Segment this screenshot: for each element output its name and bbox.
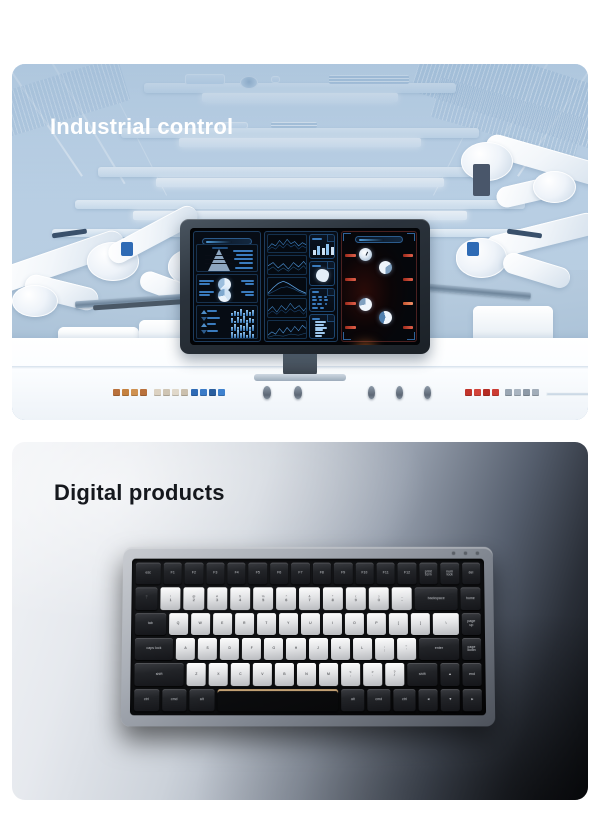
key-label: F5	[256, 572, 260, 575]
key-sublabel: ^	[286, 596, 288, 599]
key-\[interactable]: \	[433, 613, 459, 635]
key-backspace[interactable]: backspace	[415, 588, 458, 610]
key-m[interactable]: M	[319, 663, 338, 685]
key-label: alt	[351, 698, 355, 701]
key-8[interactable]: *8	[323, 588, 343, 610]
key-label: tab	[148, 622, 153, 625]
monitor-base	[254, 374, 346, 381]
page-title-industrial: Industrial control	[50, 114, 233, 140]
keyboard-row-5: shiftZXCVBNM< ,> .? /shift▲end	[134, 663, 481, 685]
key-label: page up	[467, 620, 475, 627]
card-digital-products[interactable]: escF1F2F3F4F5F6F7F8F9F10F11F12print scrn…	[12, 442, 588, 800]
key-alt[interactable]: alt	[189, 689, 214, 711]
key-f6[interactable]: F6	[270, 563, 288, 585]
key-label: A	[184, 647, 186, 650]
key-"-'[interactable]: " '	[397, 638, 416, 660]
key-4[interactable]: $4	[230, 588, 250, 610]
key-label: home	[466, 597, 475, 600]
key-label: ◄	[427, 698, 431, 701]
key-label: ▼	[449, 698, 453, 701]
monitor-neck	[283, 354, 317, 376]
key-k[interactable]: K	[331, 638, 350, 660]
key-r[interactable]: R	[235, 613, 254, 635]
key-label: ctrl	[402, 698, 407, 701]
key-sublabel: @	[192, 596, 195, 599]
key-shift[interactable]: shift	[134, 663, 184, 685]
key-alt[interactable]: alt	[342, 689, 365, 711]
key-label: E	[221, 622, 223, 625]
keyboard-led-indicators	[452, 552, 479, 555]
trend-panel[interactable]	[264, 231, 338, 342]
key-print-scrn[interactable]: print scrn	[419, 563, 438, 585]
key-ctrl[interactable]: ctrl	[134, 689, 159, 711]
key-y[interactable]: Y	[279, 613, 298, 635]
key-s[interactable]: S	[198, 638, 217, 660]
key-t[interactable]: T	[257, 613, 276, 635]
key-f[interactable]: F	[242, 638, 261, 660]
key-q[interactable]: Q	[169, 613, 188, 635]
key-label: S	[206, 647, 208, 650]
key-sublabel: #	[216, 596, 218, 599]
keyboard-keywell[interactable]: escF1F2F3F4F5F6F7F8F9F10F11F12print scrn…	[130, 559, 486, 716]
key-label: F12	[404, 572, 410, 575]
console-buttons-gray[interactable]	[505, 389, 539, 396]
key-label: F2	[192, 572, 196, 575]
key-ctrl[interactable]: ctrl	[393, 689, 416, 711]
key-label: F4	[235, 572, 239, 575]
key-◄[interactable]: ◄	[419, 689, 438, 711]
key-2[interactable]: @2	[184, 588, 204, 610]
key->-.[interactable]: > .	[363, 663, 382, 685]
key-l[interactable]: L	[353, 638, 372, 660]
wave-chart-2[interactable]	[267, 255, 307, 274]
key-label: 5	[262, 599, 264, 603]
key-v[interactable]: V	[253, 663, 272, 685]
key-label: Z	[195, 673, 197, 676]
mechanical-keyboard[interactable]: escF1F2F3F4F5F6F7F8F9F10F11F12print scrn…	[121, 547, 496, 727]
wave-chart-3[interactable]	[267, 277, 307, 296]
key-f12[interactable]: F12	[398, 563, 416, 585]
key-label: caps lock	[146, 647, 161, 650]
key-label: N	[305, 673, 308, 676]
wave-chart-1[interactable]	[267, 234, 307, 253]
key-sublabel: $	[239, 596, 241, 599]
key-[[interactable]: [	[389, 613, 408, 635]
key-sublabel: %	[262, 596, 265, 599]
key-0[interactable]: )0	[369, 588, 389, 610]
key-label: W	[199, 622, 202, 625]
key-label: ►	[471, 698, 475, 701]
key-~-`[interactable]: ~ `	[135, 588, 157, 610]
key-label: 7	[308, 599, 310, 603]
key-7[interactable]: &7	[299, 588, 319, 610]
key-label: end	[469, 673, 475, 676]
keyboard-row-4: caps lockASDFGHJKL: ;" 'enterpage down	[135, 638, 482, 660]
key-9[interactable]: (9	[346, 588, 366, 610]
key-label: Y	[287, 622, 289, 625]
key-label: ▲	[448, 673, 452, 676]
key-][interactable]: ]	[411, 613, 430, 635]
console-knob-1[interactable]	[263, 386, 271, 399]
key-f9[interactable]: F9	[334, 563, 352, 585]
key-label: backspace	[428, 597, 445, 600]
key-label: < ,	[349, 671, 351, 678]
key-label: F7	[298, 572, 302, 575]
key-caps-lock[interactable]: caps lock	[135, 638, 173, 660]
key-f4[interactable]: F4	[227, 563, 245, 585]
key-label: 3	[216, 599, 218, 603]
pie-charts[interactable]	[196, 274, 258, 302]
key-b[interactable]: B	[275, 663, 294, 685]
key-label: : ;	[384, 646, 385, 653]
key-label: X	[217, 673, 219, 676]
key-c[interactable]: C	[231, 663, 250, 685]
key-page-down[interactable]: page down	[462, 638, 481, 660]
gauge-1[interactable]	[359, 248, 372, 261]
donut-chart	[218, 289, 231, 302]
key-?-/[interactable]: ? /	[385, 663, 404, 685]
wave-chart-4[interactable]	[267, 298, 307, 317]
key-3[interactable]: #3	[207, 588, 227, 610]
key-label: O	[353, 622, 356, 625]
console-knob-5[interactable]	[424, 386, 431, 399]
key-label: page down	[467, 646, 476, 653]
key-label: F1	[171, 572, 175, 575]
led-scroll-icon	[476, 552, 479, 555]
key-label: 6	[285, 599, 287, 603]
key-:-;[interactable]: : ;	[375, 638, 394, 660]
keyboard-row-2: ~ `!1@2#3$4%5^6&7*8(9)0_-backspacehome	[135, 588, 480, 610]
key-label: cmd	[171, 698, 178, 701]
key-label: ? /	[394, 671, 396, 678]
key-f10[interactable]: F10	[355, 563, 373, 585]
list-card[interactable]	[309, 314, 335, 339]
key-label: shift	[419, 673, 426, 676]
key-end[interactable]: end	[462, 663, 481, 685]
key-label: enter	[435, 647, 443, 650]
key-j[interactable]: J	[309, 638, 328, 660]
key-u[interactable]: U	[301, 613, 320, 635]
key-label: -	[401, 599, 402, 603]
key-label: G	[273, 647, 276, 650]
console-knob-4[interactable]	[396, 386, 403, 399]
key-e[interactable]: E	[213, 613, 232, 635]
key-label: > .	[371, 671, 373, 678]
console-buttons-orange[interactable]	[113, 389, 147, 396]
key-o[interactable]: O	[345, 613, 364, 635]
keyboard-row-6: ctrlcmdaltaltcmdctrl◄▼►	[134, 689, 482, 711]
key-label: D	[228, 647, 231, 650]
key-5[interactable]: %5	[253, 588, 273, 610]
key-f8[interactable]: F8	[313, 563, 331, 585]
key-label: F8	[320, 572, 324, 575]
key-label: J	[317, 647, 319, 650]
key-label: num lock	[446, 570, 453, 577]
key-►[interactable]: ►	[463, 689, 482, 711]
key-label: F6	[277, 572, 281, 575]
key-label: 8	[332, 599, 334, 603]
key-x[interactable]: X	[209, 663, 228, 685]
key-shift[interactable]: shift	[407, 663, 438, 685]
key-page-up[interactable]: page up	[462, 613, 481, 635]
alarm-status-bar	[355, 236, 403, 243]
key-label: del	[469, 572, 474, 575]
key-6[interactable]: ^6	[276, 588, 296, 610]
key-cmd[interactable]: cmd	[162, 689, 187, 711]
shape-card[interactable]	[309, 261, 335, 286]
key-label: Q	[177, 622, 180, 625]
key-label: F10	[361, 572, 367, 575]
console-buttons-red[interactable]	[465, 389, 499, 396]
key-f5[interactable]: F5	[249, 563, 267, 585]
key-label: \	[445, 622, 446, 625]
key-space[interactable]	[217, 689, 339, 711]
key-label: T	[265, 622, 267, 625]
key-label: shift	[156, 673, 163, 676]
key-▲[interactable]: ▲	[440, 663, 459, 685]
key-label: H	[295, 647, 298, 650]
key-f1[interactable]: F1	[163, 563, 182, 585]
key-label: ~ `	[145, 595, 147, 602]
key-p[interactable]: P	[367, 613, 386, 635]
key-label: [	[398, 622, 399, 625]
card-industrial-control[interactable]: Industrial control	[12, 64, 588, 420]
key-▼[interactable]: ▼	[441, 689, 460, 711]
keyboard-row-3: tabQWERTYUIOP[]\page up	[135, 613, 481, 635]
key-label: esc	[145, 572, 151, 575]
page-title-digital: Digital products	[54, 480, 225, 506]
console-knob-2[interactable]	[294, 386, 302, 399]
console-plate[interactable]	[546, 392, 588, 396]
key-label: print scrn	[425, 570, 432, 577]
keyboard-row-1: escF1F2F3F4F5F6F7F8F9F10F11F12print scrn…	[136, 563, 481, 585]
key-f2[interactable]: F2	[185, 563, 204, 585]
console-buttons-tan[interactable]	[154, 389, 188, 396]
control-monitor[interactable]	[180, 219, 430, 354]
key-label: F	[251, 647, 253, 650]
key-cmd[interactable]: cmd	[367, 689, 390, 711]
key-label: K	[339, 647, 341, 650]
key-sublabel: )	[378, 596, 379, 599]
key-label: F11	[383, 572, 389, 575]
console-knob-3[interactable]	[368, 386, 375, 399]
bar-chart-rows[interactable]	[196, 305, 258, 339]
gauge-2[interactable]	[379, 261, 392, 274]
key-label: I	[332, 622, 333, 625]
key-label: 9	[355, 599, 357, 603]
key-g[interactable]: G	[264, 638, 283, 660]
key-sublabel: *	[332, 596, 333, 599]
key-label: cmd	[375, 698, 382, 701]
key-label: U	[309, 622, 312, 625]
key-label: 1	[170, 599, 172, 603]
key-label: 0	[378, 599, 380, 603]
key-label: M	[327, 673, 330, 676]
key-esc[interactable]: esc	[136, 563, 161, 585]
key-label: P	[375, 622, 377, 625]
key-sublabel: !	[170, 596, 171, 599]
wave-chart-5[interactable]	[267, 320, 307, 339]
key-i[interactable]: I	[323, 613, 342, 635]
key-label: C	[239, 673, 242, 676]
alarm-panel[interactable]	[341, 231, 417, 342]
table-card[interactable]	[309, 288, 335, 313]
key-label: B	[283, 673, 285, 676]
key-home[interactable]: home	[460, 588, 480, 610]
led-num-icon	[464, 552, 467, 555]
key-w[interactable]: W	[191, 613, 210, 635]
key-label: R	[243, 622, 246, 625]
key-label: L	[361, 647, 363, 650]
key-label: F3	[213, 572, 217, 575]
key-num-lock[interactable]: num lock	[440, 563, 459, 585]
key-z[interactable]: Z	[187, 663, 206, 685]
led-caps-icon	[452, 552, 455, 555]
key-label: ]	[420, 622, 421, 625]
key-label: ctrl	[144, 698, 149, 701]
key-n[interactable]: N	[297, 663, 316, 685]
key-label: V	[261, 673, 263, 676]
key-label: " '	[406, 646, 407, 653]
key-d[interactable]: D	[220, 638, 239, 660]
page-root: Industrial control escF1F2F3F4F5F6F7F8F9…	[0, 0, 600, 840]
console-buttons-blue[interactable]	[191, 389, 225, 396]
key-label: F9	[341, 572, 345, 575]
gauge-grid[interactable]	[344, 244, 414, 345]
key-f3[interactable]: F3	[206, 563, 224, 585]
key-label: 2	[193, 599, 195, 603]
key-<-,[interactable]: < ,	[341, 663, 360, 685]
pyramid-chart[interactable]	[196, 244, 258, 272]
key-label: alt	[200, 698, 204, 701]
key-1[interactable]: !1	[161, 588, 181, 610]
gauge-3[interactable]	[359, 298, 372, 311]
key-a[interactable]: A	[176, 638, 195, 660]
key-f11[interactable]: F11	[377, 563, 395, 585]
key-h[interactable]: H	[286, 638, 305, 660]
key-sublabel: (	[355, 596, 356, 599]
key-sublabel: &	[308, 596, 310, 599]
key-del[interactable]: del	[462, 563, 481, 585]
bar-card[interactable]	[309, 234, 335, 259]
key-label: 4	[239, 599, 241, 603]
key-f7[interactable]: F7	[291, 563, 309, 585]
key--[interactable]: _-	[392, 588, 412, 610]
key-enter[interactable]: enter	[419, 638, 459, 660]
dashboard-screen[interactable]	[190, 228, 420, 345]
key-sublabel: _	[401, 596, 403, 599]
key-tab[interactable]: tab	[135, 613, 166, 635]
gauge-4[interactable]	[379, 311, 392, 324]
analytics-panel[interactable]	[193, 231, 261, 342]
